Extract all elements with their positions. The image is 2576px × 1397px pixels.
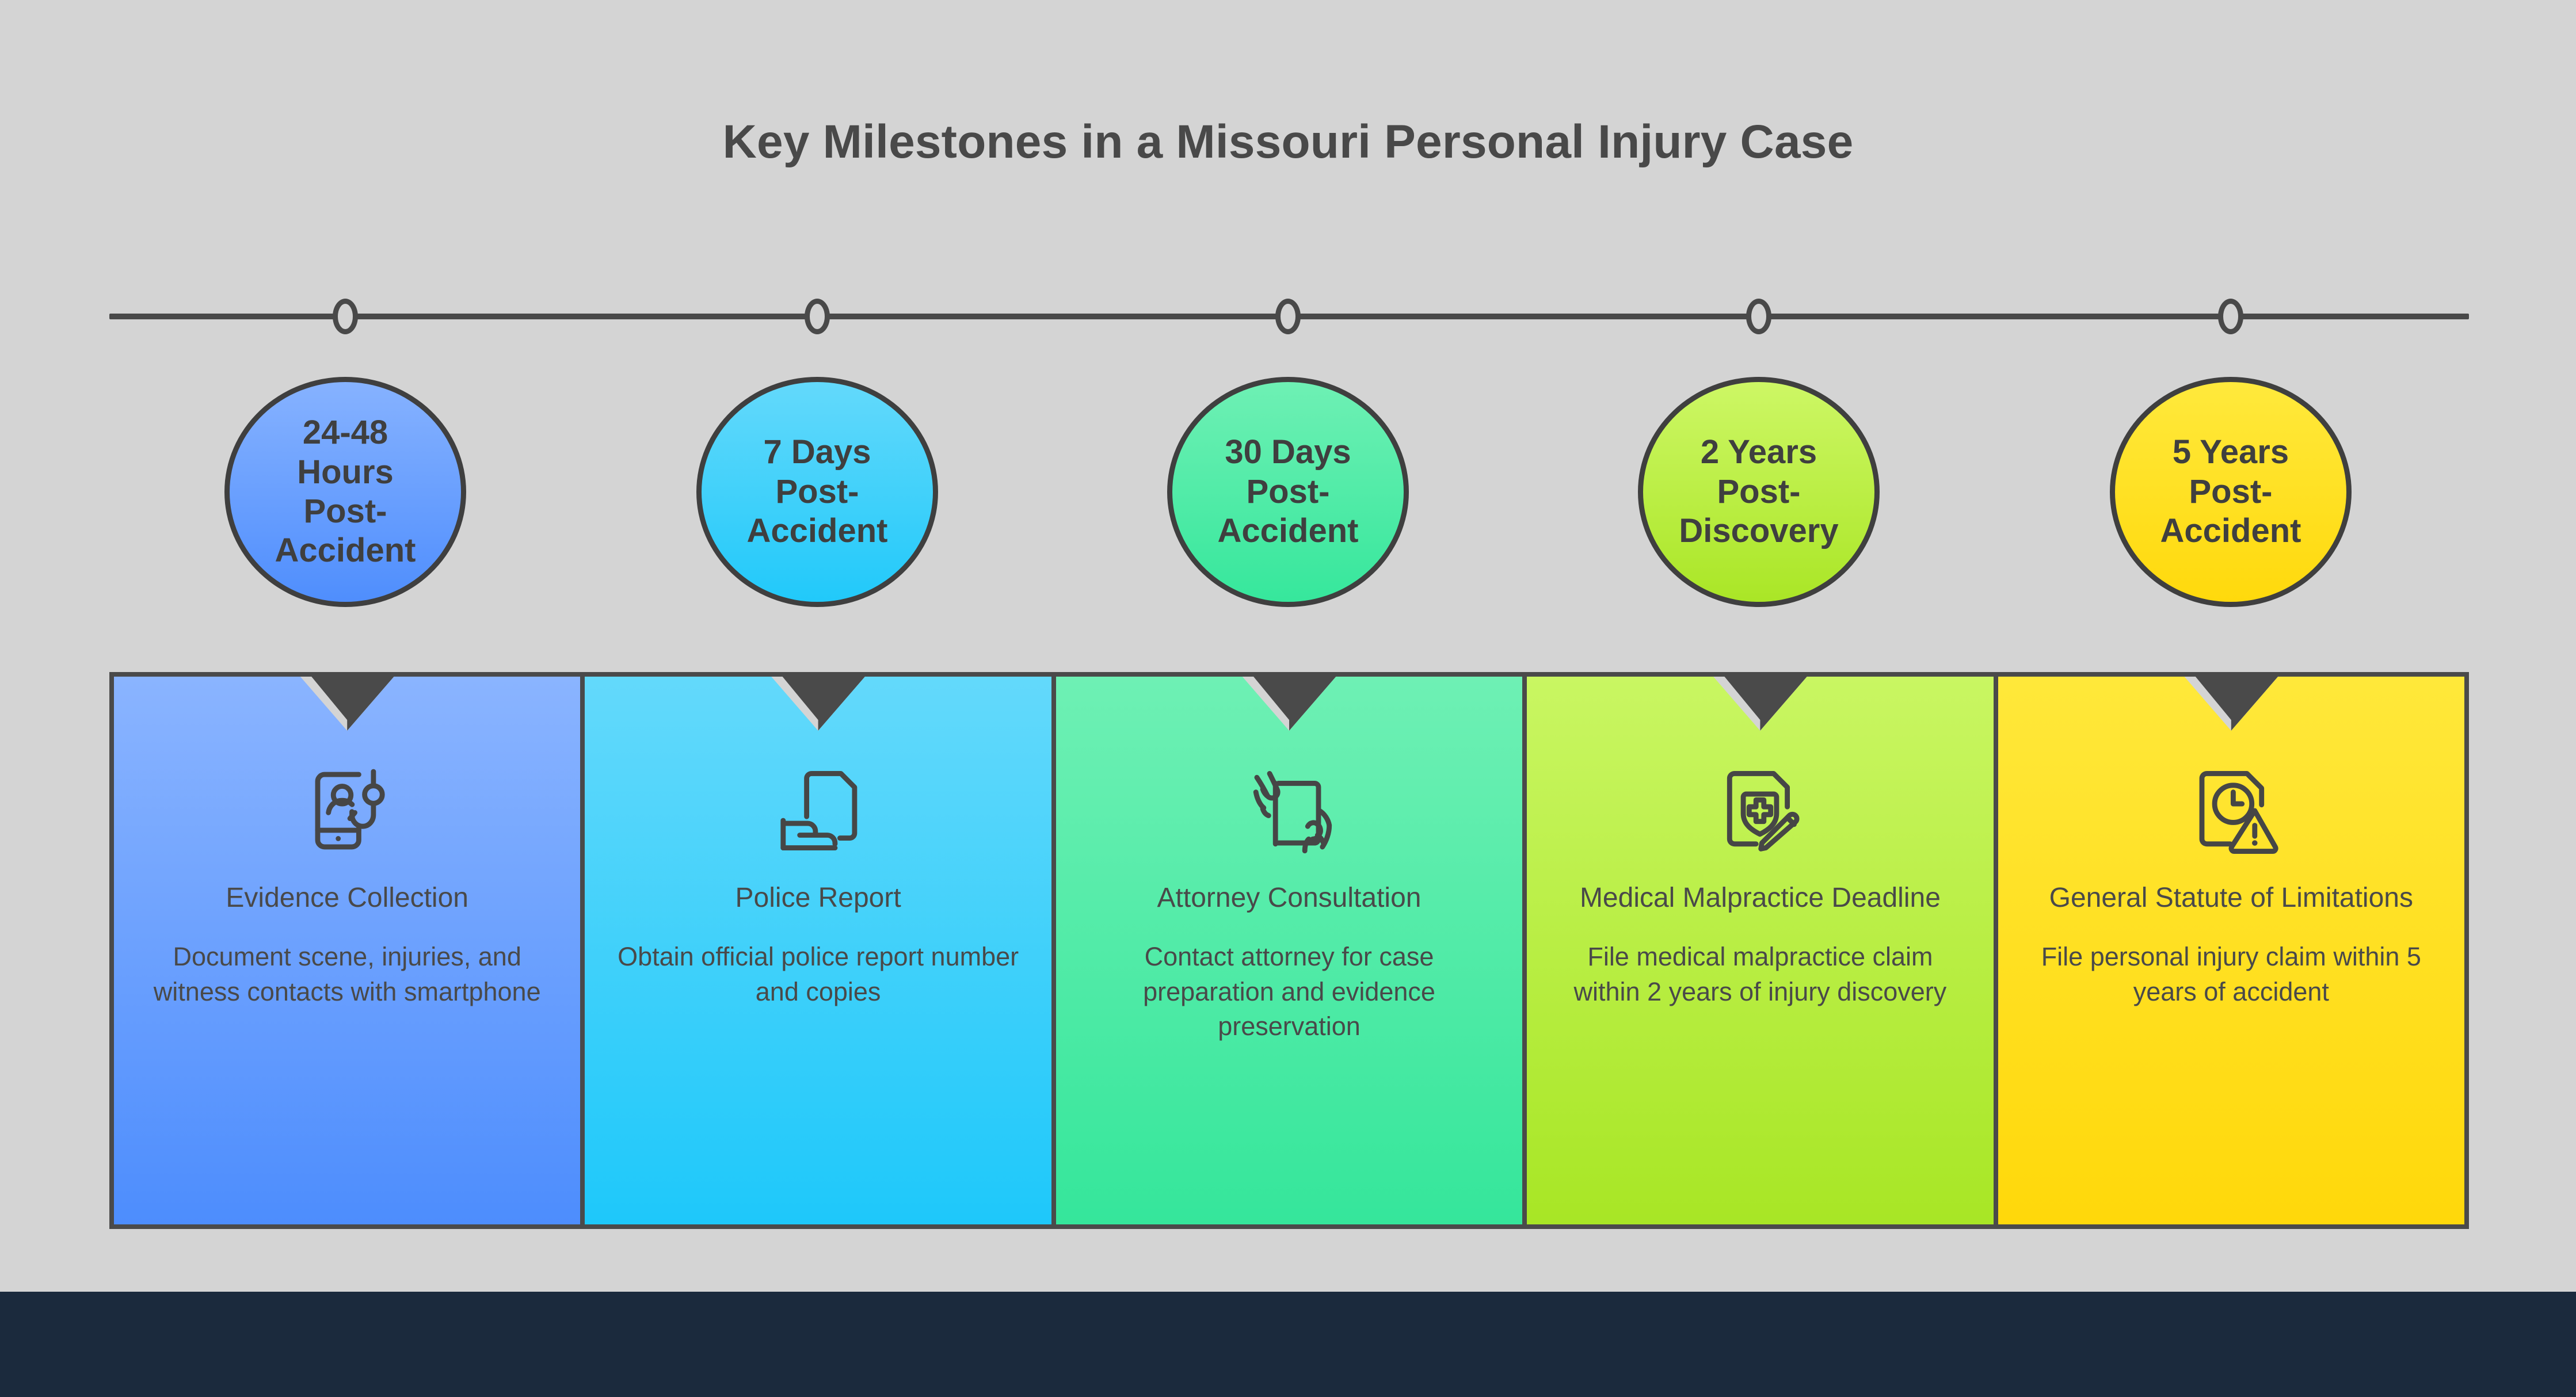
card-title-1: Evidence Collection — [151, 880, 543, 915]
page-title: Key Milestones in a Missouri Personal In… — [0, 115, 2576, 169]
milestone-circles: 24-48 Hours Post-Accident 7 Days Post-Ac… — [0, 377, 2576, 607]
milestone-circle-5[interactable]: 5 Years Post-Accident — [2110, 377, 2352, 607]
card-notch-4 — [1708, 677, 1812, 731]
milestone-card-5[interactable]: General Statute of Limitations File pers… — [1998, 677, 2464, 1224]
milestone-circle-3[interactable]: 30 Days Post-Accident — [1167, 377, 1409, 607]
milestone-circle-label-1: 24-48 Hours Post-Accident — [259, 413, 432, 571]
milestone-circle-4[interactable]: 2 Years Post-Discovery — [1638, 377, 1880, 607]
milestone-circle-1[interactable]: 24-48 Hours Post-Accident — [224, 377, 466, 607]
hands-holding-document-icon — [1237, 762, 1341, 860]
milestone-card-4[interactable]: Medical Malpractice Deadline File medica… — [1527, 677, 1993, 1224]
card-notch-1 — [295, 677, 399, 731]
card-notch-3 — [1237, 677, 1341, 731]
medical-document-pencil-icon — [1708, 762, 1812, 860]
milestone-circle-label-2: 7 Days Post-Accident — [731, 433, 904, 551]
card-title-5: General Statute of Limitations — [2035, 880, 2427, 915]
milestone-circle-label-5: 5 Years Post-Accident — [2144, 433, 2317, 551]
card-title-4: Medical Malpractice Deadline — [1564, 880, 1956, 915]
card-desc-5: File personal injury claim within 5 year… — [2026, 940, 2436, 1009]
milestone-circle-2[interactable]: 7 Days Post-Accident — [696, 377, 938, 607]
milestone-cards: Evidence Collection Document scene, inju… — [109, 672, 2469, 1229]
card-title-3: Attorney Consultation — [1093, 880, 1485, 915]
milestone-circle-label-4: 2 Years Post-Discovery — [1672, 433, 1845, 551]
timeline-marker-2 — [805, 299, 830, 334]
milestone-card-3[interactable]: Attorney Consultation Contact attorney f… — [1056, 677, 1522, 1224]
timeline-marker-5 — [2218, 299, 2243, 334]
card-title-2: Police Report — [622, 880, 1014, 915]
smartphone-person-hook-icon — [295, 762, 399, 860]
milestone-circle-label-3: 30 Days Post-Accident — [1202, 433, 1374, 551]
card-desc-2: Obtain official police report number and… — [613, 940, 1023, 1009]
infographic-canvas: Key Milestones in a Missouri Personal In… — [0, 0, 2576, 1397]
card-desc-3: Contact attorney for case preparation an… — [1084, 940, 1494, 1044]
document-clock-warning-icon — [2179, 762, 2283, 860]
document-hand-icon — [767, 762, 870, 860]
card-notch-5 — [2179, 677, 2283, 731]
footer-bar — [0, 1292, 2576, 1397]
milestone-card-2[interactable]: Police Report Obtain official police rep… — [585, 677, 1051, 1224]
card-desc-4: File medical malpractice claim within 2 … — [1555, 940, 1965, 1009]
card-desc-1: Document scene, injuries, and witness co… — [142, 940, 552, 1009]
timeline-marker-1 — [333, 299, 358, 334]
milestone-card-1[interactable]: Evidence Collection Document scene, inju… — [114, 677, 580, 1224]
timeline-marker-3 — [1275, 299, 1301, 334]
card-notch-2 — [767, 677, 870, 731]
timeline-marker-4 — [1746, 299, 1771, 334]
